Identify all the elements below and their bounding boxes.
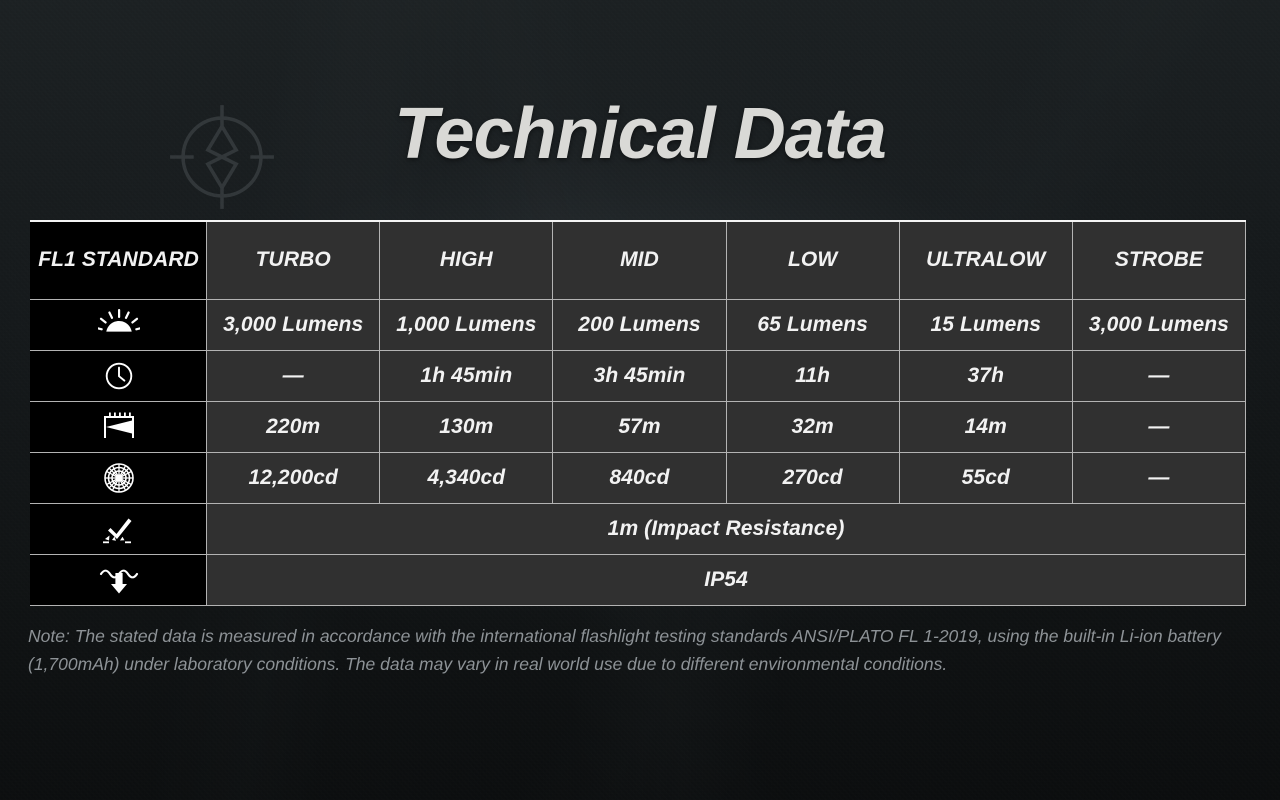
- row-icon-cell-impact-resistance: [31, 503, 207, 554]
- beam-distance-ruler-icon: [102, 412, 136, 442]
- column-header-strobe: STROBE: [1072, 221, 1245, 299]
- cell-distance-strobe: —: [1072, 401, 1245, 452]
- cell-distance-high: 130m: [380, 401, 553, 452]
- column-header-high: HIGH: [380, 221, 553, 299]
- impact-resistance-icon: [101, 513, 137, 545]
- fl1-standard-label: FL1 STANDARD: [31, 221, 207, 299]
- cell-distance-turbo: 220m: [207, 401, 380, 452]
- cell-lumens-strobe: 3,000 Lumens: [1072, 299, 1245, 350]
- row-icon-cell-water-resistance: [31, 554, 207, 605]
- cell-water-resistance-value: IP54: [207, 554, 1246, 605]
- cell-lumens-high: 1,000 Lumens: [380, 299, 553, 350]
- table-header-row: FL1 STANDARD TURBO HIGH MID LOW ULTRALOW…: [31, 221, 1246, 299]
- cell-candela-ultralow: 55cd: [899, 452, 1072, 503]
- cell-candela-strobe: —: [1072, 452, 1245, 503]
- cell-candela-mid: 840cd: [553, 452, 726, 503]
- cell-runtime-strobe: —: [1072, 350, 1245, 401]
- water-resistance-icon: [98, 564, 140, 596]
- clock-icon: [104, 361, 134, 391]
- cell-candela-low: 270cd: [726, 452, 899, 503]
- footnote-text: Note: The stated data is measured in acc…: [28, 622, 1242, 679]
- column-header-ultralow: ULTRALOW: [899, 221, 1072, 299]
- cell-distance-low: 32m: [726, 401, 899, 452]
- row-icon-cell-runtime: [31, 350, 207, 401]
- cell-impact-resistance-value: 1m (Impact Resistance): [207, 503, 1246, 554]
- cell-candela-turbo: 12,200cd: [207, 452, 380, 503]
- cell-lumens-turbo: 3,000 Lumens: [207, 299, 380, 350]
- cell-runtime-high: 1h 45min: [380, 350, 553, 401]
- cell-lumens-low: 65 Lumens: [726, 299, 899, 350]
- cell-runtime-ultralow: 37h: [899, 350, 1072, 401]
- cell-distance-ultralow: 14m: [899, 401, 1072, 452]
- cell-runtime-turbo: —: [207, 350, 380, 401]
- cell-lumens-ultralow: 15 Lumens: [899, 299, 1072, 350]
- row-icon-cell-beam-distance: [31, 401, 207, 452]
- cell-distance-mid: 57m: [553, 401, 726, 452]
- table-row-water-resistance: IP54: [31, 554, 1246, 605]
- table-row-beam-distance: 220m 130m 57m 32m 14m —: [31, 401, 1246, 452]
- column-header-low: LOW: [726, 221, 899, 299]
- cell-runtime-low: 11h: [726, 350, 899, 401]
- technical-data-table: FL1 STANDARD TURBO HIGH MID LOW ULTRALOW…: [30, 220, 1246, 606]
- candela-target-icon: [103, 462, 135, 494]
- column-header-mid: MID: [553, 221, 726, 299]
- table-row-peak-beam-intensity: 12,200cd 4,340cd 840cd 270cd 55cd —: [31, 452, 1246, 503]
- light-burst-icon: [98, 309, 140, 341]
- table-row-runtime: — 1h 45min 3h 45min 11h 37h —: [31, 350, 1246, 401]
- table-row-impact-resistance: 1m (Impact Resistance): [31, 503, 1246, 554]
- row-icon-cell-peak-beam-intensity: [31, 452, 207, 503]
- page-title: Technical Data: [0, 98, 1280, 170]
- cell-lumens-mid: 200 Lumens: [553, 299, 726, 350]
- table-row-luminous-flux: 3,000 Lumens 1,000 Lumens 200 Lumens 65 …: [31, 299, 1246, 350]
- row-icon-cell-luminous-flux: [31, 299, 207, 350]
- cell-runtime-mid: 3h 45min: [553, 350, 726, 401]
- column-header-turbo: TURBO: [207, 221, 380, 299]
- cell-candela-high: 4,340cd: [380, 452, 553, 503]
